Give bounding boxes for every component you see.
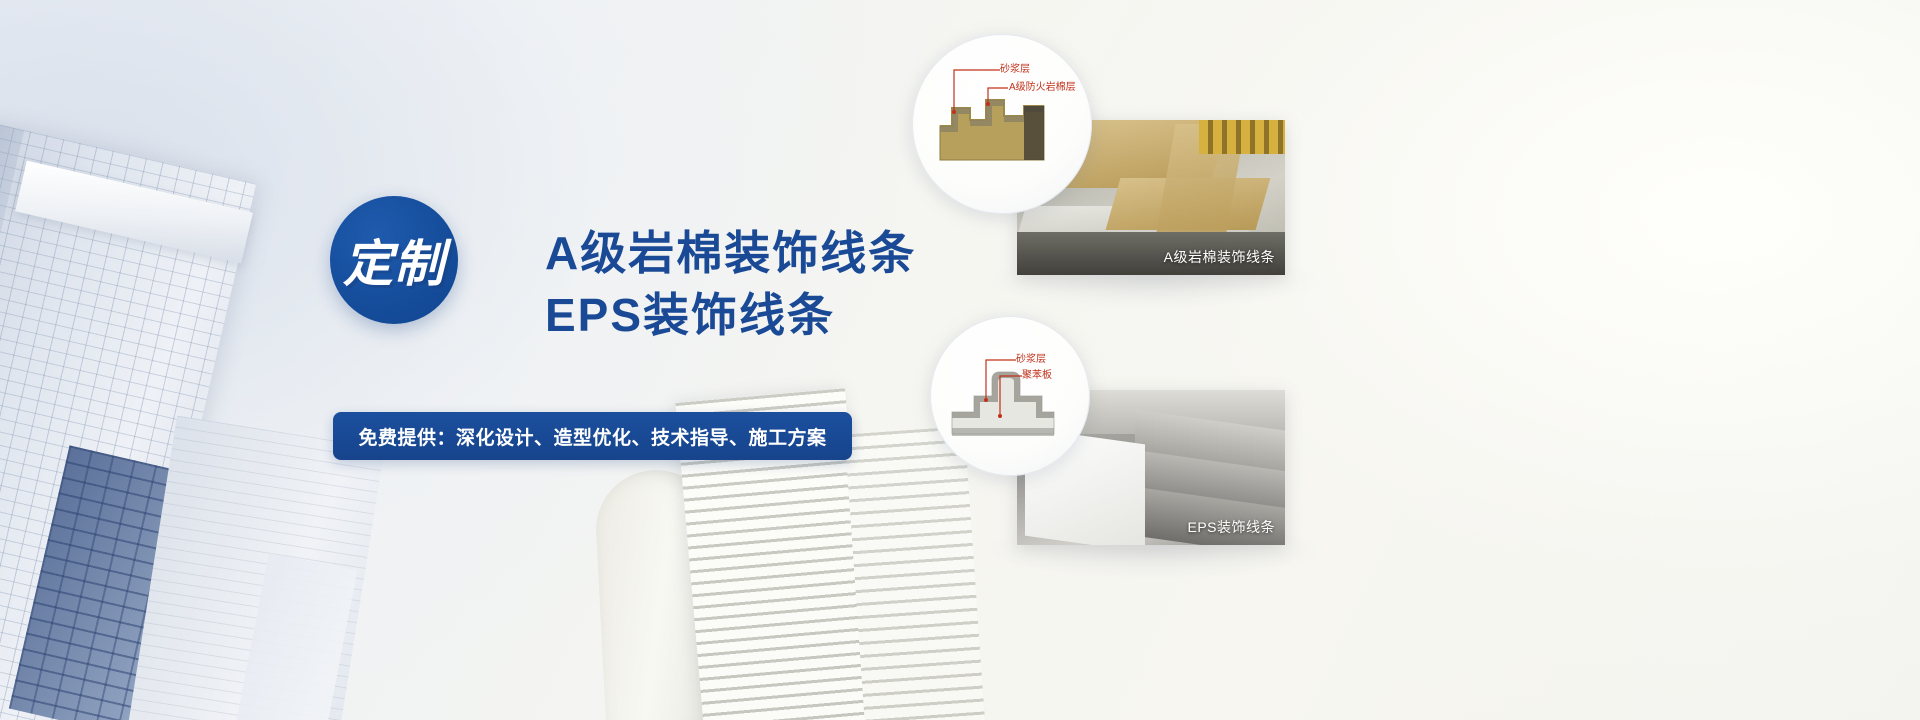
custom-made-badge: 定制 (330, 196, 458, 324)
background-building-photo (0, 0, 960, 720)
cutaway-diagram-rockwool: 砂浆层 A级防火岩棉层 (912, 34, 1092, 214)
cutaway-diagram-eps: 砂浆层 聚苯板 (930, 316, 1090, 476)
annotation-rockwool-mortar: 砂浆层 (1000, 64, 1030, 76)
headline-group: A级岩棉装饰线条 EPS装饰线条 (545, 222, 916, 346)
annotation-rockwool-fireproof: A级防火岩棉层 (1009, 82, 1076, 94)
free-services-bar: 免费提供：深化设计、造型优化、技术指导、施工方案 (333, 412, 852, 460)
headline-line-2: EPS装饰线条 (545, 284, 916, 346)
product-caption-rockwool: A级岩棉装饰线条 (1164, 247, 1275, 267)
product-caption-eps: EPS装饰线条 (1187, 517, 1275, 537)
custom-made-badge-label: 定制 (343, 239, 445, 289)
annotation-eps-foam-board: 聚苯板 (1022, 370, 1052, 382)
promo-banner: 定制 A级岩棉装饰线条 EPS装饰线条 免费提供：深化设计、造型优化、技术指导、… (0, 0, 1920, 720)
free-services-text: 免费提供：深化设计、造型优化、技术指导、施工方案 (358, 423, 826, 450)
rockwool-cross-section-icon (912, 34, 1092, 214)
annotation-eps-mortar: 砂浆层 (1016, 354, 1046, 366)
headline-line-1: A级岩棉装饰线条 (545, 222, 916, 284)
photo-yellow-strip (1199, 120, 1285, 154)
eps-cross-section-icon (930, 316, 1090, 476)
